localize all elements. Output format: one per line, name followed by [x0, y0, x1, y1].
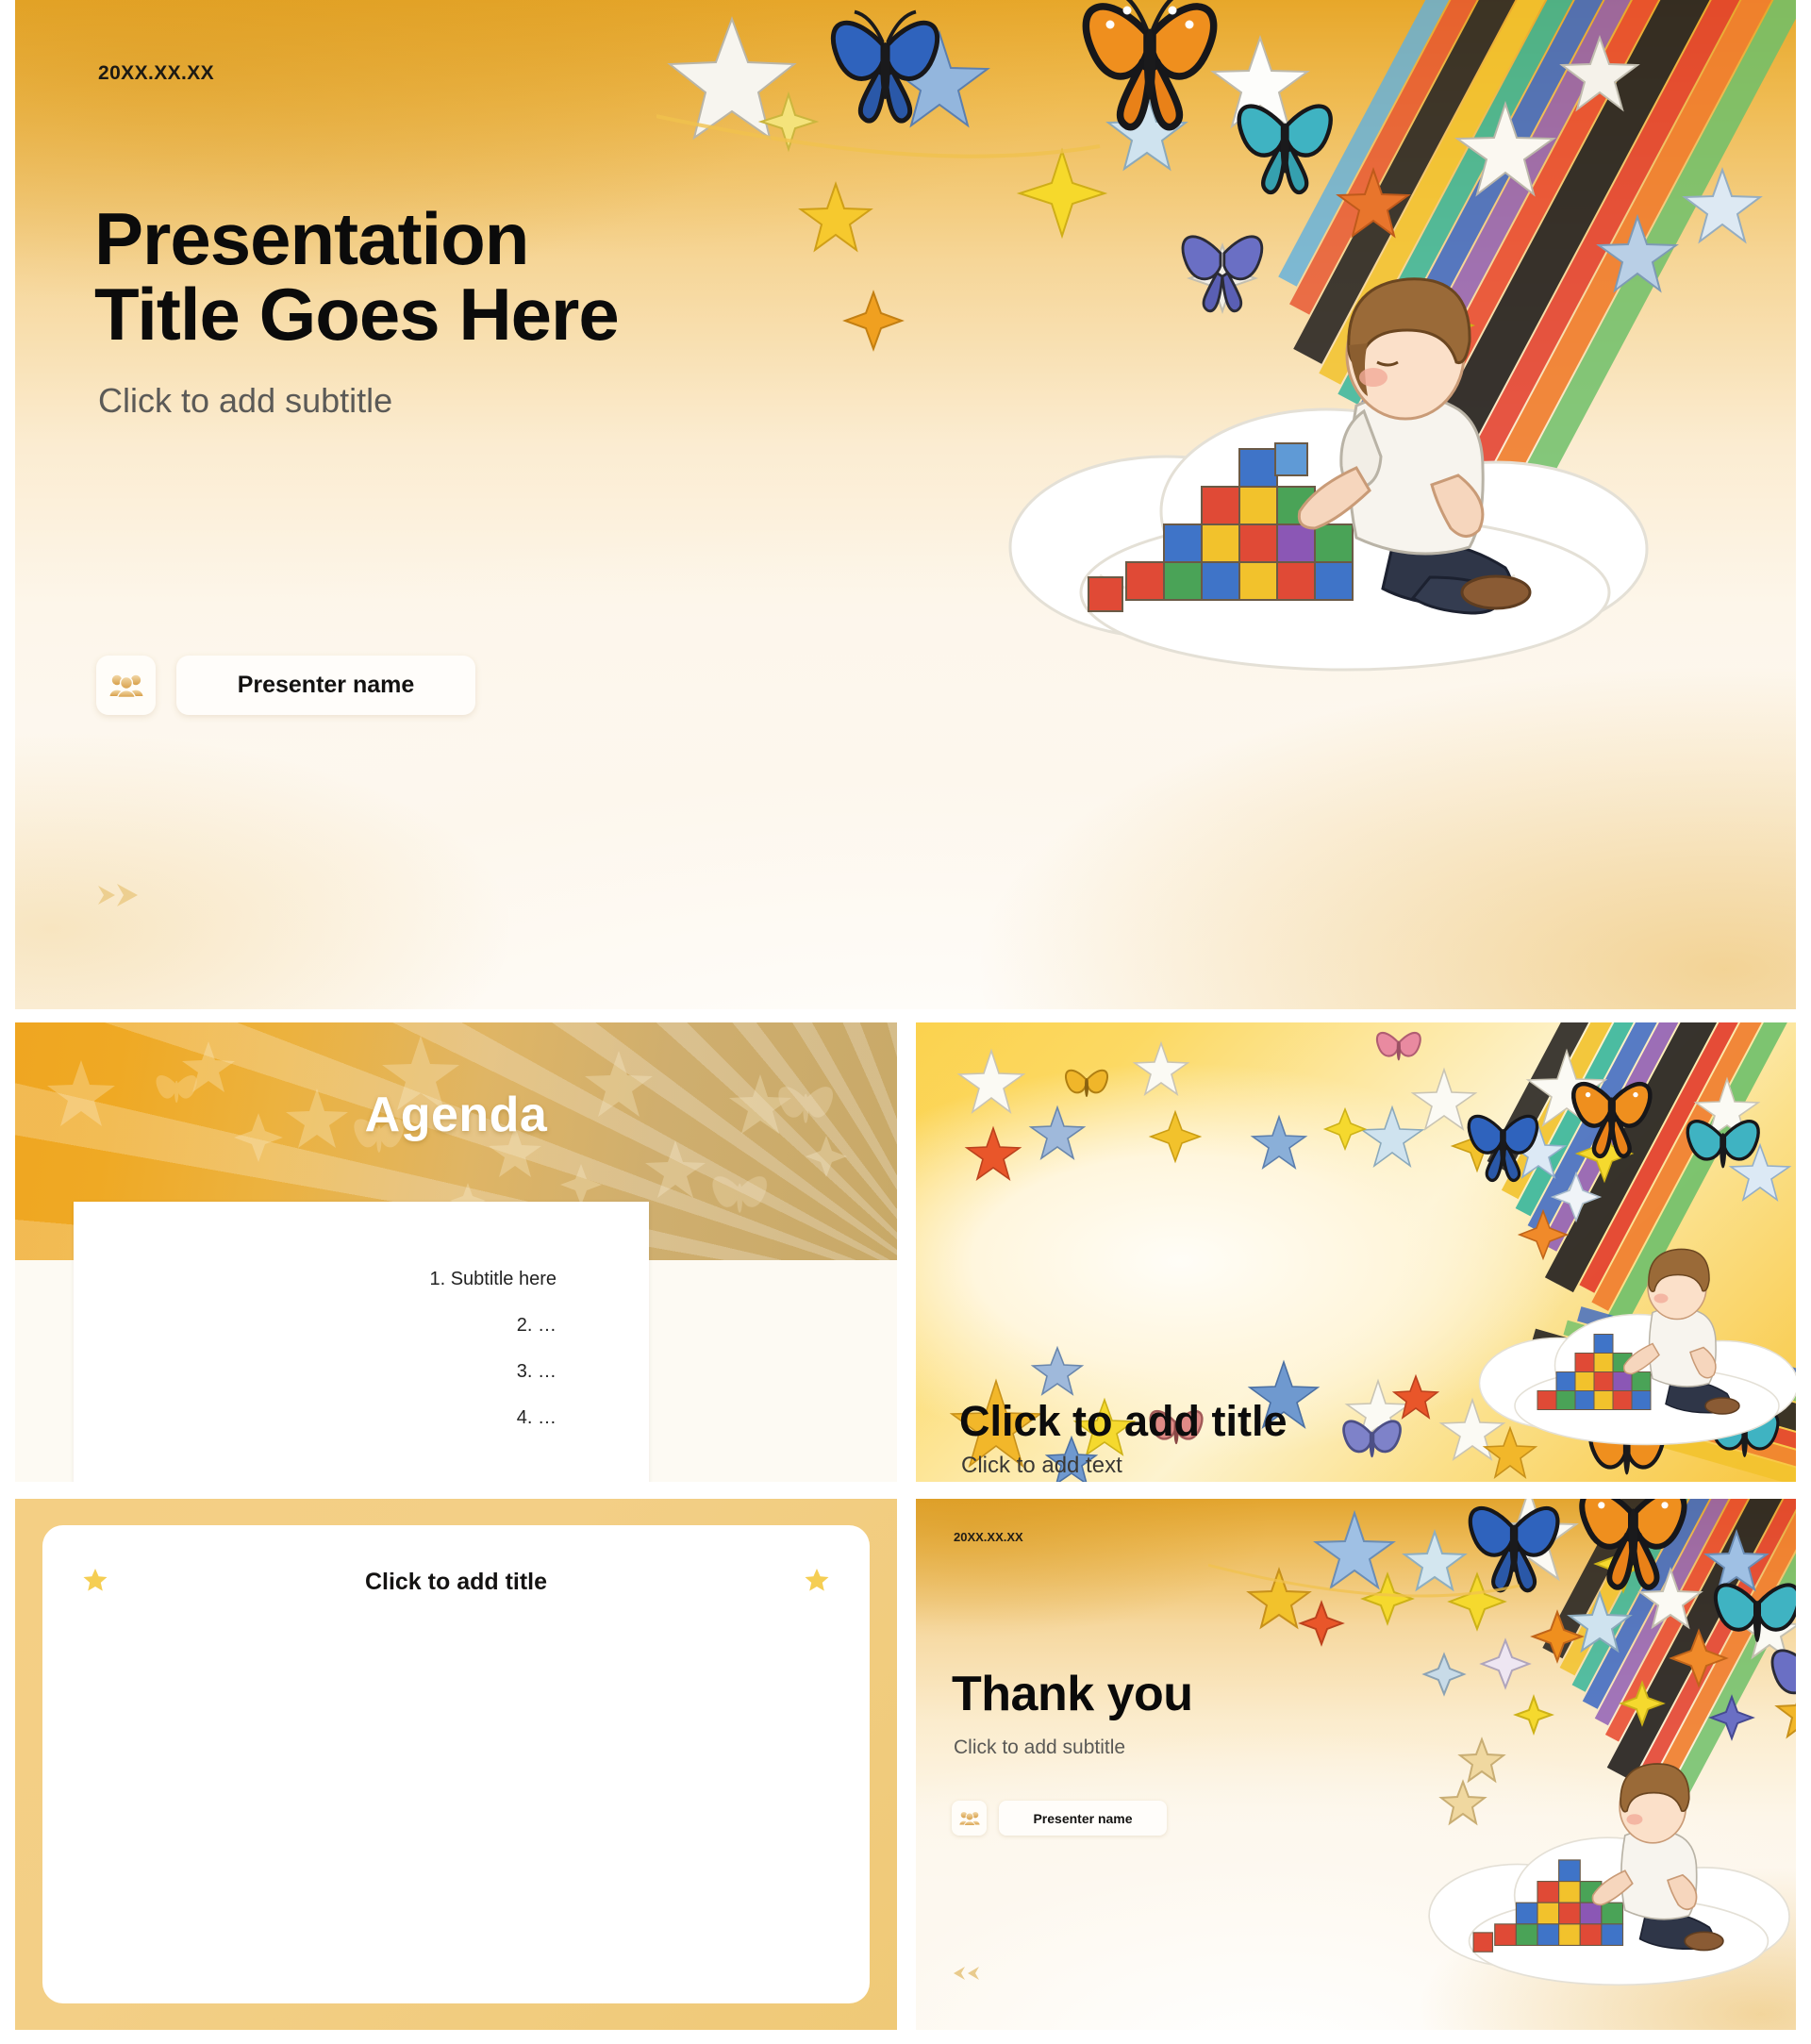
- thanks-subtitle-placeholder[interactable]: Click to add subtitle: [954, 1737, 1125, 1759]
- card-title-placeholder[interactable]: Click to add title: [42, 1569, 870, 1596]
- people-group-glyph: [109, 673, 143, 698]
- fast-forward-glyph: [96, 882, 143, 908]
- butterfly-teal-icon: [1239, 107, 1331, 192]
- rewind-icon[interactable]: [952, 1965, 982, 1986]
- title-line-1: Presentation: [94, 197, 528, 280]
- illustration-boy-on-cloud: [1468, 1239, 1796, 1466]
- people-group-icon[interactable]: [96, 656, 156, 715]
- star-icon: [82, 1567, 108, 1593]
- agenda-title[interactable]: Agenda: [15, 1087, 897, 1143]
- agenda-content-card[interactable]: 1. Subtitle here 2. … 3. … 4. …: [74, 1202, 649, 1482]
- content-body-placeholder[interactable]: Click to add text: [961, 1453, 1122, 1479]
- slide-blank-card[interactable]: Click to add title: [15, 1499, 897, 2030]
- presenter-name-field[interactable]: Presenter name: [999, 1801, 1167, 1836]
- subtitle-placeholder[interactable]: Click to add subtitle: [98, 381, 392, 421]
- presenter-row: Presenter name: [96, 656, 475, 715]
- people-group-icon[interactable]: [952, 1801, 987, 1836]
- card-white-area[interactable]: Click to add title: [42, 1525, 870, 2003]
- butterfly-monarch-icon: [1086, 0, 1213, 127]
- rewind-glyph: [952, 1965, 982, 1982]
- slide-title[interactable]: 20XX.XX.XX PresentationTitle Goes Here C…: [15, 0, 1796, 1009]
- list-item[interactable]: 4. …: [111, 1408, 557, 1427]
- slide-thank-you[interactable]: 20XX.XX.XX Thank you Click to add subtit…: [916, 1499, 1796, 2030]
- agenda-list: 1. Subtitle here 2. … 3. … 4. …: [74, 1270, 557, 1454]
- illustration-boy-on-cloud: [987, 264, 1703, 707]
- illustration-boy-on-cloud: [1416, 1753, 1796, 2008]
- slide-deck: 20XX.XX.XX PresentationTitle Goes Here C…: [0, 0, 1811, 2044]
- star-icon: [804, 1567, 830, 1593]
- list-item[interactable]: 1. Subtitle here: [111, 1270, 557, 1288]
- slide-date: 20XX.XX.XX: [954, 1530, 1023, 1544]
- slide-content[interactable]: Click to add title Click to add text: [916, 1022, 1796, 1482]
- fast-forward-icon[interactable]: [96, 882, 143, 913]
- content-title-placeholder[interactable]: Click to add title: [959, 1397, 1288, 1446]
- thanks-title[interactable]: Thank you: [952, 1666, 1193, 1722]
- page-title[interactable]: PresentationTitle Goes Here: [94, 201, 924, 353]
- list-item[interactable]: 3. …: [111, 1362, 557, 1381]
- presenter-name-field[interactable]: Presenter name: [176, 656, 475, 715]
- title-line-2: Title Goes Here: [94, 273, 619, 356]
- slide-date: 20XX.XX.XX: [98, 62, 214, 85]
- butterfly-blue-icon: [833, 12, 937, 122]
- slide-agenda[interactable]: Agenda 1. Subtitle here 2. … 3. … 4. …: [15, 1022, 897, 1482]
- people-group-glyph: [959, 1810, 980, 1826]
- list-item[interactable]: 2. …: [111, 1316, 557, 1335]
- presenter-row: Presenter name: [952, 1801, 1167, 1836]
